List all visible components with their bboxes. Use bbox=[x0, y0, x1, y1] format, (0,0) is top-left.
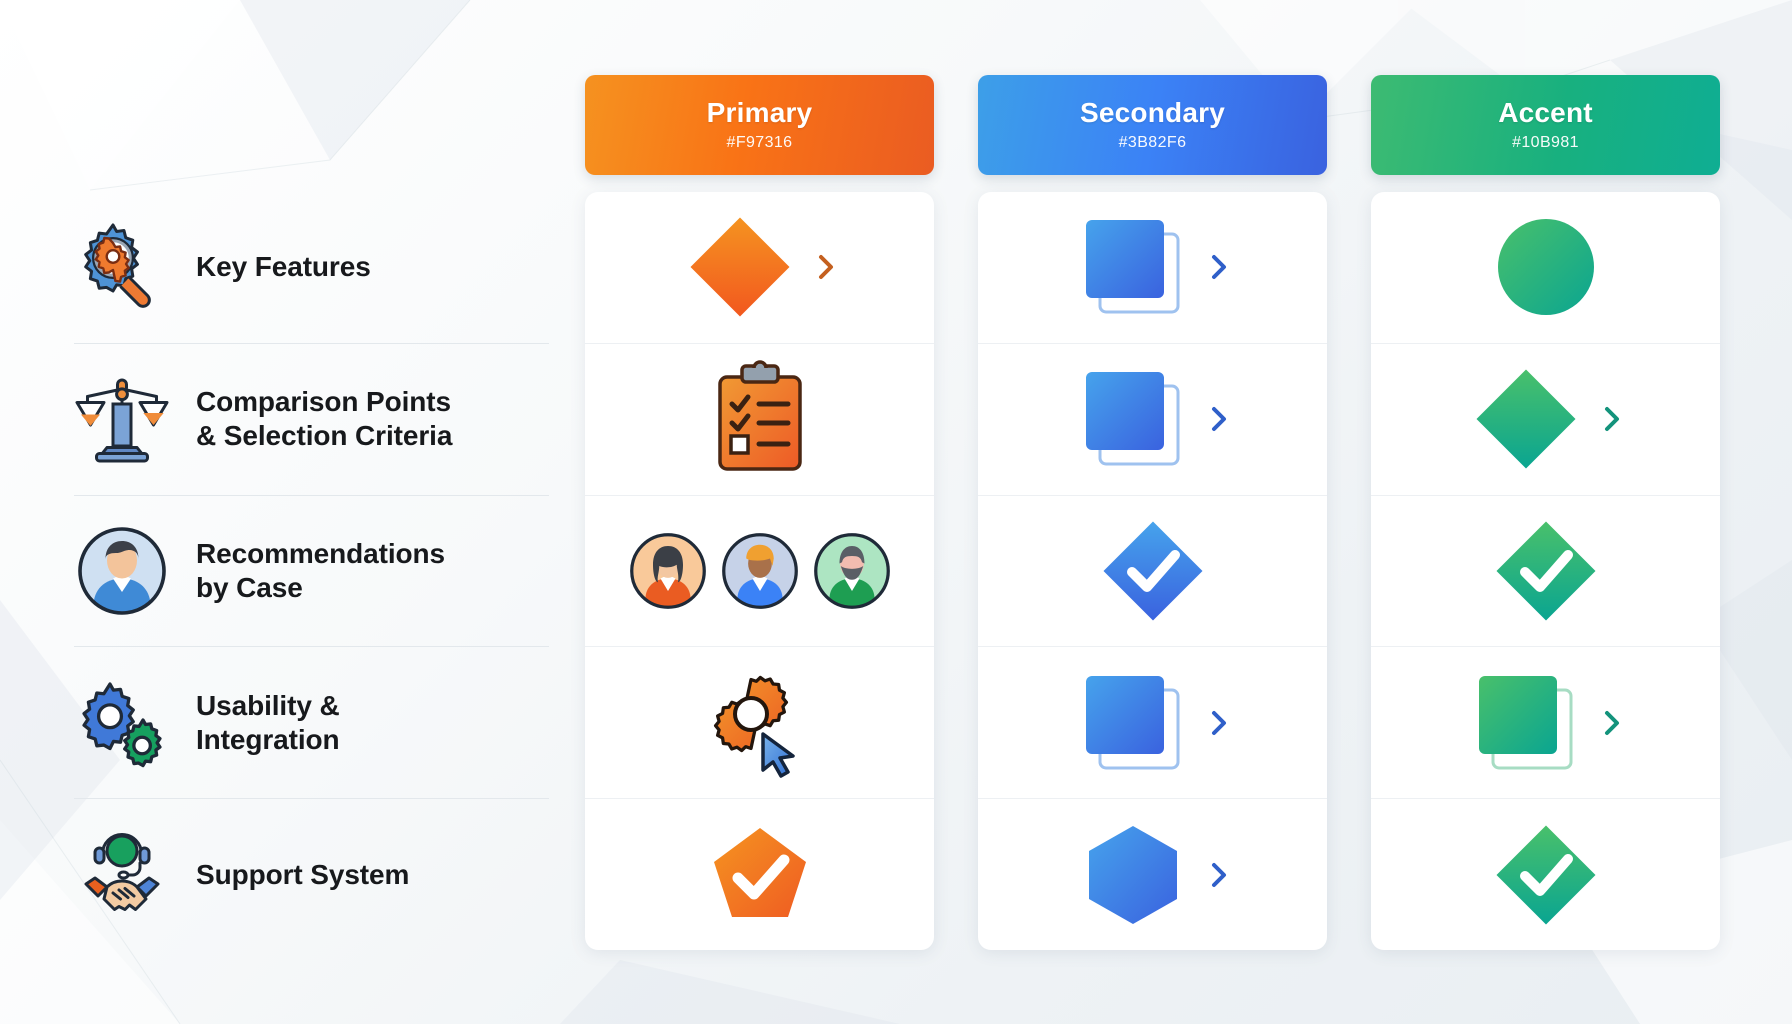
chevron-right-icon[interactable] bbox=[1206, 706, 1232, 740]
avatar-trio bbox=[628, 531, 892, 611]
circle-shape-accent bbox=[1487, 208, 1605, 326]
column-header-cell-accent: Accent #10B981 bbox=[1349, 75, 1742, 175]
cell-accent-key-features[interactable] bbox=[1371, 192, 1720, 344]
stacked-cards-shape-secondary bbox=[1074, 664, 1192, 782]
chevron-right-icon[interactable] bbox=[813, 250, 839, 284]
avatar[interactable] bbox=[628, 531, 708, 611]
avatar[interactable] bbox=[720, 531, 800, 611]
diamond-shape-primary bbox=[681, 208, 799, 326]
comparison-matrix: Primary #F97316 Secondary #3B82F6 Accent… bbox=[0, 0, 1792, 1024]
chevron-right-icon[interactable] bbox=[1599, 402, 1625, 436]
cell-accent-support-system[interactable] bbox=[1371, 799, 1720, 950]
chevron-right-icon[interactable] bbox=[1206, 402, 1232, 436]
cell-secondary-support-system[interactable] bbox=[978, 799, 1327, 950]
chevron-right-icon[interactable] bbox=[1599, 706, 1625, 740]
column-header-hex: #F97316 bbox=[727, 134, 793, 152]
cell-primary-key-features[interactable] bbox=[585, 192, 934, 344]
hexagon-shape-secondary bbox=[1074, 816, 1192, 934]
cell-primary-recommendations[interactable] bbox=[585, 496, 934, 648]
cell-secondary-recommendations[interactable] bbox=[978, 496, 1327, 648]
row-label-text: Recommendations by Case bbox=[196, 537, 445, 605]
column-header-hex: #10B981 bbox=[1512, 134, 1579, 152]
diamond-shape-accent bbox=[1467, 360, 1585, 478]
row-label-text: Key Features bbox=[196, 250, 371, 284]
column-header-primary[interactable]: Primary #F97316 bbox=[585, 75, 934, 175]
avatar[interactable] bbox=[812, 531, 892, 611]
diamond-check-shape-accent bbox=[1487, 512, 1605, 630]
row-label-recommendations-by-case[interactable]: Recommendations by Case bbox=[74, 496, 549, 648]
pentagon-check-shape bbox=[701, 816, 819, 934]
balance-scale-icon bbox=[74, 371, 170, 467]
user-avatar-icon bbox=[74, 523, 170, 619]
column-header-hex: #3B82F6 bbox=[1119, 134, 1187, 152]
row-label-key-features[interactable]: Key Features bbox=[74, 192, 549, 344]
row-label-support-system[interactable]: Support System bbox=[74, 799, 549, 950]
row-label-column: Key Features bbox=[0, 192, 563, 950]
cell-secondary-key-features[interactable] bbox=[978, 192, 1327, 344]
two-gears-icon bbox=[74, 675, 170, 771]
stacked-cards-shape-secondary bbox=[1074, 360, 1192, 478]
row-label-text: Usability & Integration bbox=[196, 689, 340, 757]
row-label-text: Support System bbox=[196, 858, 409, 892]
cell-primary-comparison-points[interactable] bbox=[585, 344, 934, 496]
value-column-primary bbox=[585, 192, 934, 950]
stacked-cards-shape-accent bbox=[1467, 664, 1585, 782]
diamond-check-shape-accent bbox=[1487, 816, 1605, 934]
cell-accent-comparison-points[interactable] bbox=[1371, 344, 1720, 496]
cell-accent-recommendations[interactable] bbox=[1371, 496, 1720, 648]
cell-secondary-usability-integration[interactable] bbox=[978, 647, 1327, 799]
gear-magnifier-icon bbox=[74, 219, 170, 315]
chevron-right-icon[interactable] bbox=[1206, 250, 1232, 284]
column-header-accent[interactable]: Accent #10B981 bbox=[1371, 75, 1720, 175]
clipboard-checklist-icon bbox=[706, 360, 814, 478]
column-header-secondary[interactable]: Secondary #3B82F6 bbox=[978, 75, 1327, 175]
row-label-comparison-points[interactable]: Comparison Points & Selection Criteria bbox=[74, 344, 549, 496]
column-header-title: Primary bbox=[707, 98, 813, 129]
cell-secondary-comparison-points[interactable] bbox=[978, 344, 1327, 496]
header-spacer bbox=[0, 75, 563, 175]
gear-cursor-icon bbox=[701, 664, 819, 782]
stacked-cards-shape-secondary bbox=[1074, 208, 1192, 326]
row-label-usability-integration[interactable]: Usability & Integration bbox=[74, 647, 549, 799]
column-header-title: Secondary bbox=[1080, 98, 1225, 129]
column-header-cell-secondary: Secondary #3B82F6 bbox=[956, 75, 1349, 175]
column-header-title: Accent bbox=[1498, 98, 1593, 129]
cell-primary-usability-integration[interactable] bbox=[585, 647, 934, 799]
value-column-accent bbox=[1371, 192, 1720, 950]
value-column-secondary bbox=[978, 192, 1327, 950]
cell-accent-usability-integration[interactable] bbox=[1371, 647, 1720, 799]
chevron-right-icon[interactable] bbox=[1206, 858, 1232, 892]
cell-primary-support-system[interactable] bbox=[585, 799, 934, 950]
diamond-check-shape-secondary bbox=[1094, 512, 1212, 630]
row-label-text: Comparison Points & Selection Criteria bbox=[196, 385, 452, 453]
headset-handshake-icon bbox=[74, 827, 170, 923]
column-header-cell-primary: Primary #F97316 bbox=[563, 75, 956, 175]
